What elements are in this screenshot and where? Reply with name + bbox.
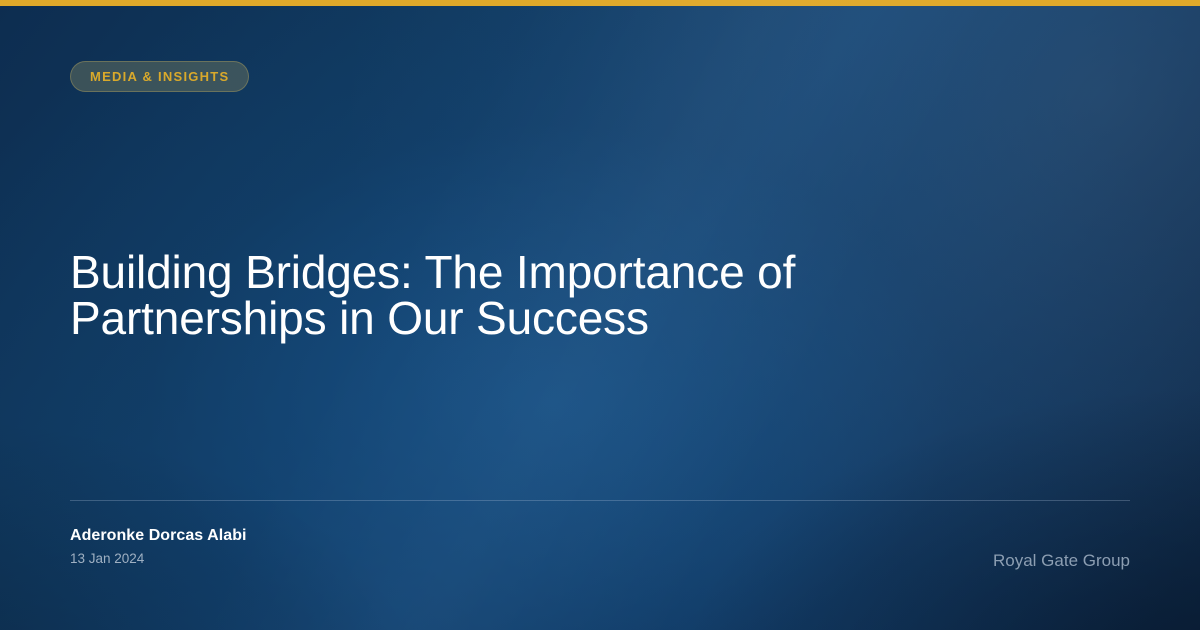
card-footer: Aderonke Dorcas Alabi 13 Jan 2024 Royal …: [70, 526, 1130, 586]
author-name: Aderonke Dorcas Alabi: [70, 526, 247, 546]
card-content: MEDIA & INSIGHTS Building Bridges: The I…: [0, 6, 1200, 630]
byline: Aderonke Dorcas Alabi 13 Jan 2024: [70, 526, 247, 567]
publish-date: 13 Jan 2024: [70, 550, 247, 567]
category-badge-label: MEDIA & INSIGHTS: [90, 69, 229, 84]
social-share-card: MEDIA & INSIGHTS Building Bridges: The I…: [0, 0, 1200, 630]
category-badge[interactable]: MEDIA & INSIGHTS: [70, 61, 249, 92]
brand-name: Royal Gate Group: [993, 550, 1130, 571]
footer-divider: [70, 500, 1130, 501]
page-title: Building Bridges: The Importance of Part…: [70, 249, 1010, 341]
